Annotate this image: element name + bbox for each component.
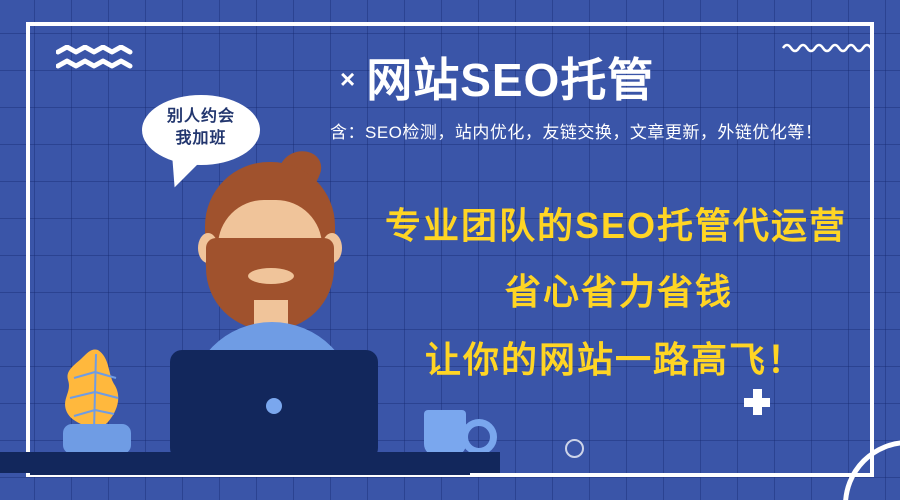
title-text: 网站SEO托管	[366, 54, 654, 106]
headline-2: 省心省力省钱	[505, 263, 733, 315]
character-illustration	[150, 150, 410, 480]
speech-bubble-line-2: 我加班	[142, 128, 260, 150]
subtitle: 含：SEO检测，站内优化，友链交换，文章更新，外链优化等！	[330, 118, 880, 143]
speech-bubble-text: 别人约会 我加班	[142, 106, 260, 150]
plus-icon	[744, 389, 770, 415]
desk-edge	[30, 469, 470, 475]
wave-lines-icon	[56, 45, 134, 71]
mug-handle	[461, 419, 497, 455]
laptop-logo-icon	[266, 398, 282, 414]
headline-1: 专业团队的SEO托管代运营	[385, 197, 847, 249]
title-bullet-icon: ×	[340, 64, 356, 94]
plant-pot	[63, 424, 131, 454]
seo-promo-banner: ×网站SEO托管 含：SEO检测，站内优化，友链交换，文章更新，外链优化等！ 专…	[0, 0, 900, 500]
headline-3: 让你的网站一路高飞！	[425, 331, 805, 383]
mouth	[248, 268, 294, 284]
page-title: ×网站SEO托管	[340, 44, 860, 110]
speech-bubble-line-1: 别人约会	[142, 106, 260, 128]
mug-icon	[424, 410, 466, 456]
circle-outline-icon	[565, 439, 584, 458]
